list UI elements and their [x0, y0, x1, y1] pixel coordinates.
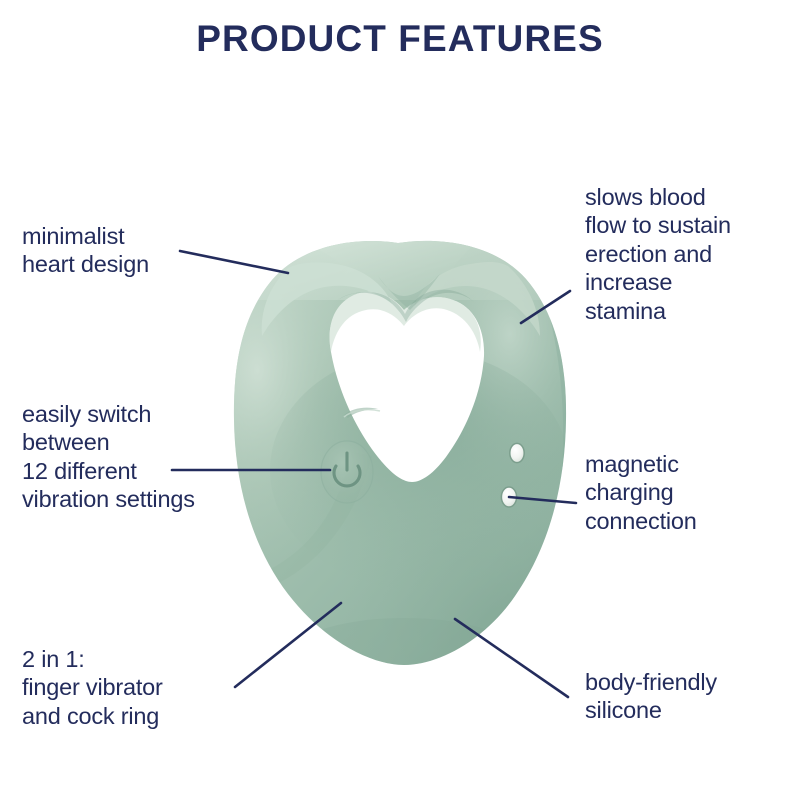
callout-2-in-1: 2 in 1: finger vibrator and cock ring — [22, 645, 272, 730]
power-button[interactable] — [321, 441, 373, 503]
product-features-infographic: PRODUCT FEATURES — [0, 0, 800, 800]
callout-easily-switch: easily switch between 12 different vibra… — [22, 400, 282, 514]
charging-contact-upper-icon — [510, 443, 524, 462]
body-bottom-shade — [284, 618, 524, 702]
callout-minimalist-heart-design: minimalist heart design — [22, 222, 252, 279]
callout-slows-blood-flow: slows blood flow to sustain erection and… — [585, 183, 800, 325]
callout-body-friendly-silicone: body-friendly silicone — [585, 668, 800, 725]
leader-body-friendly-silicone — [455, 619, 568, 697]
callout-magnetic-charging: magnetic charging connection — [585, 450, 800, 535]
